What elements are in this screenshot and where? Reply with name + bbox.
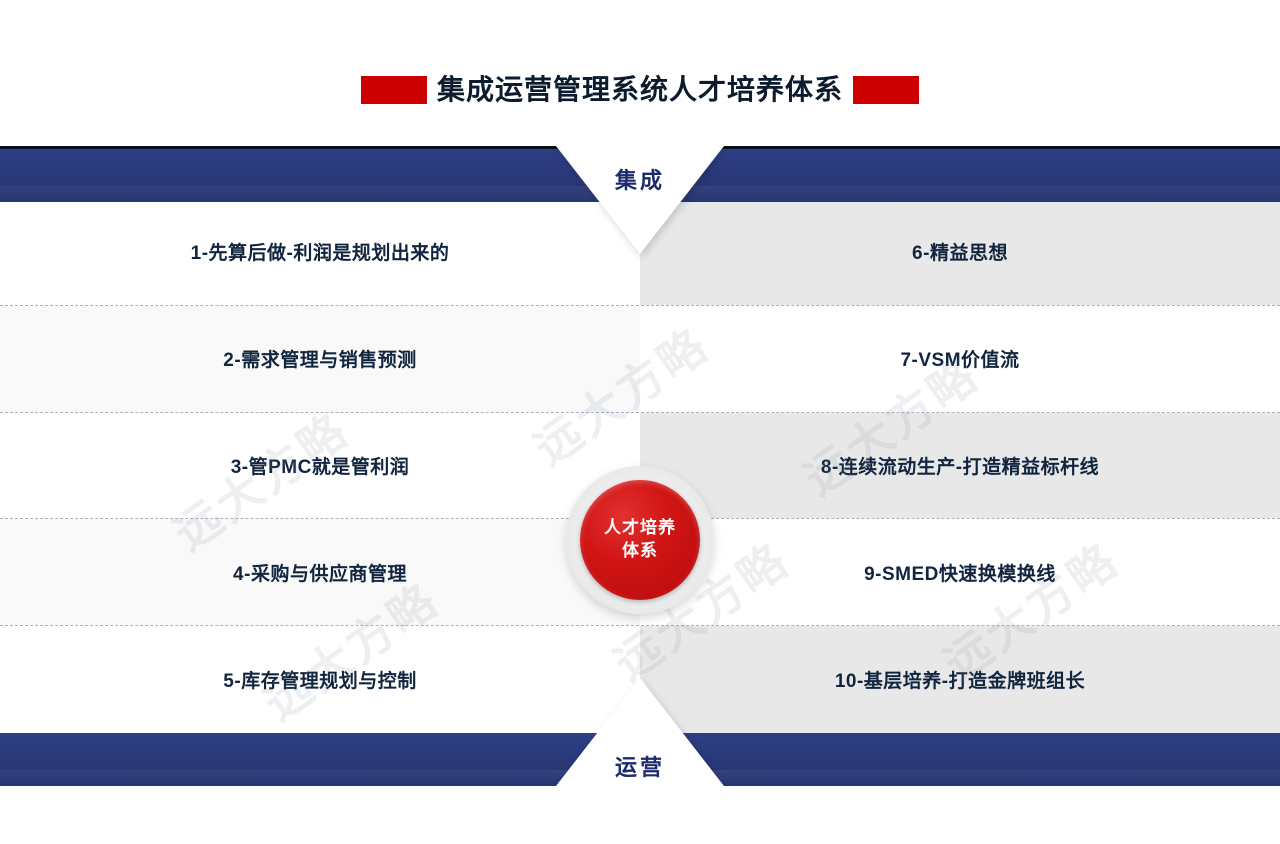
- row-label-right: 8-连续流动生产-打造精益标杆线: [821, 452, 1099, 479]
- page-title: 集成运营管理系统人才培养体系: [433, 76, 847, 104]
- row-label-right: 9-SMED快速换模换线: [864, 559, 1056, 586]
- center-hub[interactable]: 人才培养 体系: [566, 466, 714, 614]
- row-label-right: 10-基层培养-打造金牌班组长: [835, 666, 1085, 693]
- row-label-left: 1-先算后做-利润是规划出来的: [191, 238, 450, 265]
- title-accent-right-icon: [853, 76, 919, 104]
- row-label-left: 3-管PMC就是管利润: [231, 452, 410, 479]
- row-cell-left[interactable]: 3-管PMC就是管利润: [0, 413, 640, 519]
- top-banner-label: 集成: [615, 163, 665, 195]
- row-label-right: 7-VSM价值流: [900, 345, 1019, 372]
- row-cell-left[interactable]: 2-需求管理与销售预测: [0, 306, 640, 412]
- bottom-banner-label: 运营: [615, 750, 665, 782]
- row-cell-right[interactable]: 7-VSM价值流: [640, 306, 1280, 412]
- row-label-left: 2-需求管理与销售预测: [223, 345, 416, 372]
- row-label-right: 6-精益思想: [912, 238, 1008, 265]
- row-cell-right[interactable]: 10-基层培养-打造金牌班组长: [640, 626, 1280, 733]
- row-label-left: 5-库存管理规划与控制: [223, 666, 416, 693]
- row-label-left: 4-采购与供应商管理: [233, 559, 407, 586]
- page-title-bar: 集成运营管理系统人才培养体系: [0, 60, 1280, 120]
- table-row: 2-需求管理与销售预测 7-VSM价值流: [0, 306, 1280, 413]
- row-cell-left[interactable]: 5-库存管理规划与控制: [0, 626, 640, 733]
- center-hub-label: 人才培养 体系: [604, 517, 676, 563]
- title-accent-left-icon: [361, 76, 427, 104]
- diagram-board: 1-先算后做-利润是规划出来的 6-精益思想 2-需求管理与销售预测 7-VSM…: [0, 146, 1280, 786]
- row-cell-left[interactable]: 1-先算后做-利润是规划出来的: [0, 199, 640, 305]
- row-cell-left[interactable]: 4-采购与供应商管理: [0, 519, 640, 625]
- center-hub-core: 人才培养 体系: [580, 480, 700, 600]
- row-cell-right[interactable]: 9-SMED快速换模换线: [640, 519, 1280, 625]
- row-cell-right[interactable]: 8-连续流动生产-打造精益标杆线: [640, 413, 1280, 519]
- row-cell-right[interactable]: 6-精益思想: [640, 199, 1280, 305]
